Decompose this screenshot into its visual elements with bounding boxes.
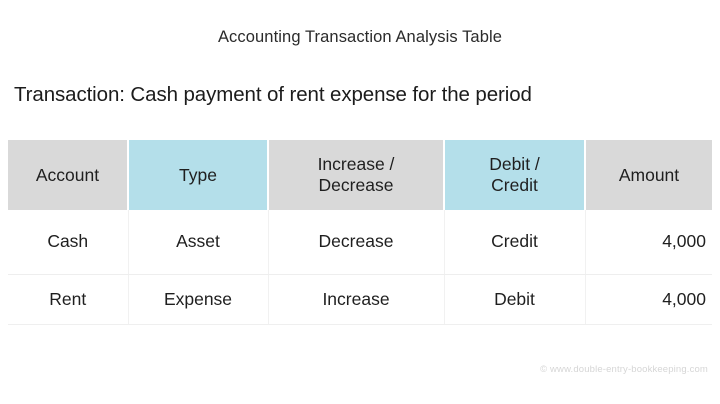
cell-debit-credit: Credit [444,210,585,274]
column-header-debit-credit: Debit / Credit [444,140,585,210]
copyright-watermark: © www.double-entry-bookkeeping.com [540,364,708,375]
table-header: Account Type Increase / Decrease Debit /… [8,140,712,210]
table-row: Cash Asset Decrease Credit 4,000 [8,210,712,274]
column-header-type: Type [128,140,268,210]
column-header-amount: Amount [585,140,712,210]
column-header-increase-decrease: Increase / Decrease [268,140,444,210]
column-header-account: Account [8,140,128,210]
cell-increase-decrease: Increase [268,274,444,324]
cell-increase-decrease: Decrease [268,210,444,274]
cell-type: Expense [128,274,268,324]
page-title: Accounting Transaction Analysis Table [0,28,720,47]
transaction-analysis-table: Account Type Increase / Decrease Debit /… [8,140,712,325]
cell-account: Rent [8,274,128,324]
cell-amount: 4,000 [585,210,712,274]
table-body: Cash Asset Decrease Credit 4,000 Rent Ex… [8,210,712,324]
column-header-increase-decrease-line1: Increase / [318,154,395,174]
transaction-description: Transaction: Cash payment of rent expens… [14,83,532,107]
table-header-row: Account Type Increase / Decrease Debit /… [8,140,712,210]
column-header-debit-credit-line1: Debit / [489,154,540,174]
cell-amount: 4,000 [585,274,712,324]
cell-type: Asset [128,210,268,274]
column-header-increase-decrease-line2: Decrease [319,175,394,195]
cell-debit-credit: Debit [444,274,585,324]
table-row: Rent Expense Increase Debit 4,000 [8,274,712,324]
column-header-debit-credit-line2: Credit [491,175,538,195]
cell-account: Cash [8,210,128,274]
